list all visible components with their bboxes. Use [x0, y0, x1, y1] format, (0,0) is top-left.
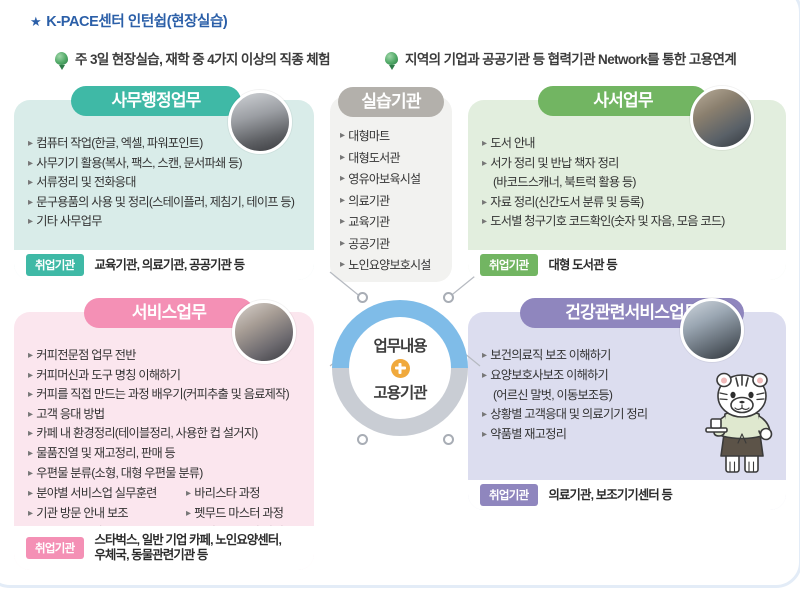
list-item: ▸대형도서관 [340, 148, 446, 170]
list-item: ▸커피머신과 도구 명칭 이해하기 [28, 366, 302, 386]
footer-line-2: 우체국, 동물관련기관 등 [95, 548, 208, 562]
list-item: ▸우편물 분류(소형, 대형 우편물 분류) [28, 464, 302, 484]
header-bullet-2: 지역의 기업과 공공기관 등 협력기관 Network를 통한 고용연계 [385, 48, 736, 68]
panel-service-list: ▸커피전문점 업무 전반 ▸커피머신과 도구 명칭 이해하기 ▸커피를 직접 만… [28, 346, 302, 483]
list-item: ▸서가 정리 및 반납 책자 정리 [482, 154, 774, 174]
panel-library-footer-text: 대형 도서관 등 [549, 258, 617, 273]
connector-node-library [443, 292, 454, 303]
panel-service-footer-text: 스타벅스, 일반 기업 카페, 노인요양센터, 우체국, 동물관련기관 등 [95, 533, 282, 563]
center-hub: 업무내용 고용기관 [332, 300, 468, 436]
panel-service-footer: 취업기관 스타벅스, 일반 기업 카페, 노인요양센터, 우체국, 동물관련기관… [14, 526, 314, 570]
panel-center-title: 실습기관 [338, 87, 444, 117]
panel-library-title: 사서업무 [538, 86, 708, 116]
list-item: ▸물품진열 및 재고정리, 판매 등 [28, 444, 302, 464]
panel-office-title: 사무행정업무 [71, 86, 241, 116]
page-title-text: K-PACE센터 인턴쉽(현장실습) [46, 14, 227, 30]
photo-health-service [680, 298, 744, 362]
panel-health-footer: 취업기관 의료기관, 보조기기센터 등 [468, 480, 786, 510]
list-item: ▸바리스타 과정 [186, 484, 316, 504]
header-bullet-1: 주 3일 현장실습, 재학 중 4가지 이상의 직종 체험 [55, 48, 330, 68]
hub-inner: 업무내용 고용기관 [349, 317, 451, 419]
panel-health-footer-text: 의료기관, 보조기기센터 등 [549, 488, 673, 503]
status-badge: 취업기관 [480, 484, 538, 506]
status-badge: 취업기관 [26, 537, 84, 559]
photo-office-admin [228, 90, 292, 154]
location-pin-icon [55, 52, 68, 65]
panel-library-footer: 취업기관 대형 도서관 등 [468, 250, 786, 280]
list-item: ▸문구용품의 사용 및 정리(스테이플러, 제침기, 테이프 등) [28, 193, 302, 213]
list-item: ▸고객 응대 방법 [28, 405, 302, 425]
footer-line-1: 스타벅스, 일반 기업 카페, 노인요양센터, [95, 533, 282, 547]
plus-icon [391, 359, 410, 378]
header-bullet-2-text: 지역의 기업과 공공기관 등 협력기관 Network를 통한 고용연계 [405, 48, 736, 68]
list-item: ▸서류정리 및 전화응대 [28, 173, 302, 193]
panel-center-list: ▸대형마트 ▸대형도서관 ▸영유아보육시설 ▸의료기관 ▸교육기관 ▸공공기관 … [340, 126, 446, 277]
photo-service [232, 300, 296, 364]
connector-node-service [357, 434, 368, 445]
list-item: ▸기타 사무업무 [28, 212, 302, 232]
panel-office-footer: 취업기관 교육기관, 의료기관, 공공기관 등 [14, 250, 314, 280]
panel-practice-institutions[interactable]: 실습기관 ▸대형마트 ▸대형도서관 ▸영유아보육시설 ▸의료기관 ▸교육기관 ▸… [330, 96, 452, 282]
list-item: ▸도서별 청구기호 코드확인(숫자 및 자음, 모음 코드) [482, 212, 774, 232]
list-item: ▸펫무드 마스터 과정 [186, 504, 316, 524]
status-badge: 취업기관 [26, 254, 84, 276]
connector-node-health [443, 434, 454, 445]
list-item: ▸공공기관 [340, 234, 446, 256]
list-item: ▸자료 정리(신간도서 분류 및 등록) [482, 193, 774, 213]
infographic-canvas: ★K-PACE센터 인턴쉽(현장실습) 주 3일 현장실습, 재학 중 4가지 … [0, 0, 800, 598]
star-icon: ★ [30, 14, 41, 29]
connector-node-office [357, 292, 368, 303]
location-pin-icon [385, 52, 398, 65]
list-item: ▸커피를 직접 만드는 과정 배우기(커피추출 및 음료제작) [28, 385, 302, 405]
panel-service-title: 서비스업무 [84, 298, 254, 328]
page-title: ★K-PACE센터 인턴쉽(현장실습) [30, 10, 227, 31]
list-item: ▸분야별 서비스업 실무훈련 [28, 484, 188, 504]
status-badge: 취업기관 [480, 254, 538, 276]
list-item: ▸노인요양보호시설 [340, 255, 446, 277]
list-item: ▸대형마트 [340, 126, 446, 148]
list-item: ▸사무기기 활용(복사, 팩스, 스캔, 문서파쇄 등) [28, 154, 302, 174]
list-item: ▸영유아보육시설 [340, 169, 446, 191]
panel-office-footer-text: 교육기관, 의료기관, 공공기관 등 [95, 258, 245, 273]
header-bullet-1-text: 주 3일 현장실습, 재학 중 4가지 이상의 직종 체험 [75, 48, 330, 68]
hub-top-label: 업무내용 [373, 334, 426, 356]
list-item: ▸기관 방문 안내 보조 [28, 504, 188, 524]
hub-bottom-label: 고용기관 [373, 381, 426, 403]
list-item: ▸카페 내 환경정리(테이블정리, 사용한 컵 설거지) [28, 424, 302, 444]
tiger-mascot-icon [700, 368, 784, 480]
photo-librarian [690, 86, 754, 150]
list-item: ▸교육기관 [340, 212, 446, 234]
list-item: (바코드스캐너, 북트럭 활용 등) [482, 173, 774, 193]
list-item: ▸의료기관 [340, 191, 446, 213]
